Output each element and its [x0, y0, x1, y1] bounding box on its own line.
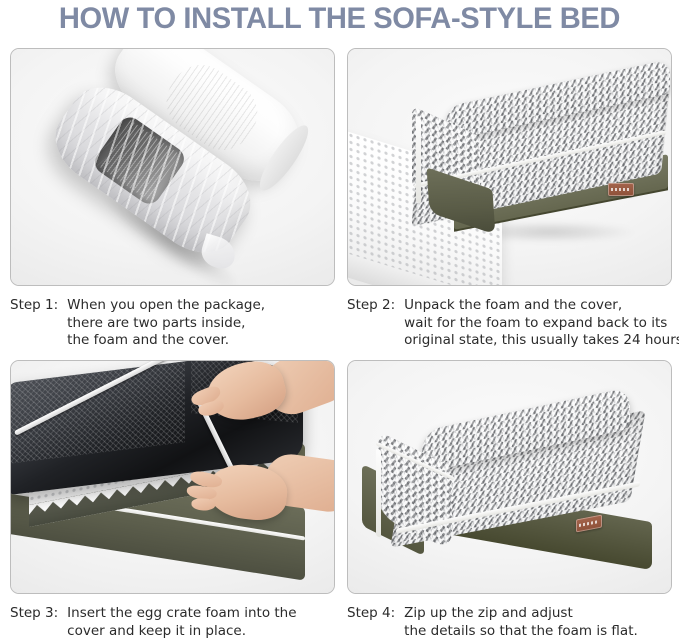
foam-side-edge: [347, 249, 502, 286]
step-2-line-3: original state, this usually takes 24 ho…: [404, 332, 679, 350]
finished-bed: [362, 405, 658, 573]
step-2-line-1: Unpack the foam and the cover,: [404, 297, 679, 315]
step-card-3: Step 3: Insert the egg crate foam into t…: [10, 360, 335, 640]
step-text-3: Insert the egg crate foam into the cover…: [67, 605, 335, 640]
brand-tag: [608, 183, 634, 196]
caption-step-3: Step 3: Insert the egg crate foam into t…: [10, 605, 335, 640]
step-card-4: Step 4: Zip up the zip and adjust the de…: [347, 360, 672, 640]
step-1-line-2: there are two parts inside,: [67, 315, 335, 333]
step-3-line-2: cover and keep it in place.: [67, 623, 335, 641]
steps-grid: Step 1: When you open the package, there…: [0, 48, 679, 644]
step-text-4: Zip up the zip and adjust the details so…: [404, 605, 672, 640]
photo-step-4-finished-bed: [347, 360, 672, 594]
photo-step-2-unpacked-foam-and-cover: [347, 48, 672, 286]
caption-step-2: Step 2: Unpack the foam and the cover, w…: [347, 297, 672, 350]
step-text-1: When you open the package, there are two…: [67, 297, 335, 350]
step-1-line-3: the foam and the cover.: [67, 332, 335, 350]
step-2-line-2: wait for the foam to expand back to its: [404, 315, 679, 333]
step-3-line-1: Insert the egg crate foam into the: [67, 605, 335, 623]
step-label-2: Step 2:: [347, 297, 404, 315]
step-label-4: Step 4:: [347, 605, 404, 623]
photo-step-1-packages: [10, 48, 335, 286]
finger: [191, 498, 215, 511]
caption-step-4: Step 4: Zip up the zip and adjust the de…: [347, 605, 672, 640]
step-4-line-2: the details so that the foam is flat.: [404, 623, 672, 641]
step-label-1: Step 1:: [10, 297, 67, 315]
step-card-1: Step 1: When you open the package, there…: [10, 48, 335, 350]
step-4-line-1: Zip up the zip and adjust: [404, 605, 672, 623]
step-label-3: Step 3:: [10, 605, 67, 623]
infographic-sheet: HOW TO INSTALL THE SOFA-STYLE BED Step 1…: [0, 0, 679, 644]
step-card-2: Step 2: Unpack the foam and the cover, w…: [347, 48, 672, 350]
page-title: HOW TO INSTALL THE SOFA-STYLE BED: [10, 2, 669, 36]
bed-shadow: [392, 593, 650, 594]
step-text-2: Unpack the foam and the cover, wait for …: [404, 297, 679, 350]
caption-step-1: Step 1: When you open the package, there…: [10, 297, 335, 350]
photo-step-3-insert-foam: [10, 360, 335, 594]
open-cover-assembly: [410, 87, 672, 223]
step-1-line-1: When you open the package,: [67, 297, 335, 315]
white-piping-left: [376, 448, 381, 538]
white-piping-side: [416, 116, 421, 204]
